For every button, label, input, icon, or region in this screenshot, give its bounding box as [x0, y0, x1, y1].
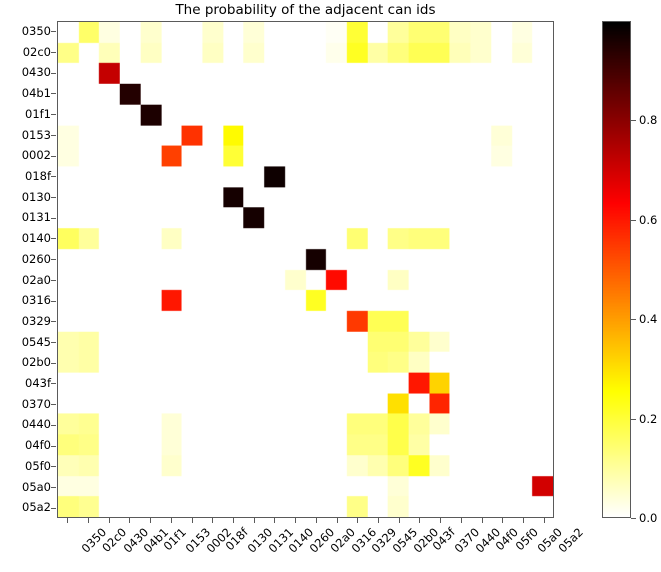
x-tick-mark	[399, 518, 400, 523]
y-tick-mark	[51, 93, 56, 94]
colorbar-tick-mark	[631, 319, 636, 320]
y-tick-mark	[51, 218, 56, 219]
x-tick-mark	[461, 518, 462, 523]
y-tick-mark	[51, 238, 56, 239]
colorbar-tick-labels: 0.00.20.40.60.8	[602, 21, 661, 518]
colorbar-tick-mark	[631, 220, 636, 221]
colorbar-tick-mark	[631, 419, 636, 420]
colorbar-tick-label: 0.4	[639, 312, 657, 326]
x-tick-mark	[212, 518, 213, 523]
x-tick-mark	[419, 518, 420, 523]
y-tick-mark	[51, 321, 56, 322]
colorbar-tick-label: 0.0	[639, 511, 657, 525]
x-axis-tick-labels: 035002c0043004b101f101530002018f01300131…	[57, 518, 554, 572]
page-title: The probability of the adjacent can ids	[57, 2, 554, 18]
x-tick-mark	[502, 518, 503, 523]
y-tick-mark	[51, 446, 56, 447]
heatmap-cells	[58, 22, 553, 517]
y-tick-mark	[51, 135, 56, 136]
y-tick-mark	[51, 466, 56, 467]
figure-canvas: The probability of the adjacent can ids …	[0, 0, 661, 572]
x-tick-mark	[523, 518, 524, 523]
y-tick-mark	[51, 259, 56, 260]
y-tick-mark	[51, 383, 56, 384]
y-tick-mark	[51, 176, 56, 177]
x-tick-mark	[378, 518, 379, 523]
y-tick-mark	[51, 363, 56, 364]
x-tick-mark	[67, 518, 68, 523]
y-tick-mark	[51, 301, 56, 302]
x-tick-mark	[274, 518, 275, 523]
x-tick-mark	[171, 518, 172, 523]
y-tick-mark	[51, 197, 56, 198]
x-tick-mark	[254, 518, 255, 523]
x-tick-mark	[150, 518, 151, 523]
y-tick-mark	[51, 156, 56, 157]
x-tick-mark	[192, 518, 193, 523]
x-tick-mark	[109, 518, 110, 523]
y-axis-tick-marks	[0, 21, 57, 518]
x-tick-mark	[295, 518, 296, 523]
x-tick-mark	[482, 518, 483, 523]
y-tick-mark	[51, 31, 56, 32]
y-tick-mark	[51, 487, 56, 488]
y-tick-mark	[51, 52, 56, 53]
x-tick-mark	[233, 518, 234, 523]
x-tick-mark	[337, 518, 338, 523]
y-tick-mark	[51, 508, 56, 509]
x-tick-mark	[88, 518, 89, 523]
x-tick-label: 05f0	[513, 525, 541, 553]
y-tick-mark	[51, 73, 56, 74]
colorbar-tick-label: 0.2	[639, 412, 657, 426]
y-tick-mark	[51, 280, 56, 281]
x-tick-mark	[544, 518, 545, 523]
y-tick-mark	[51, 404, 56, 405]
colorbar-tick-label: 0.6	[639, 213, 657, 227]
x-tick-mark	[440, 518, 441, 523]
y-tick-mark	[51, 114, 56, 115]
y-tick-mark	[51, 342, 56, 343]
x-tick-mark	[129, 518, 130, 523]
y-tick-mark	[51, 425, 56, 426]
colorbar-tick-mark	[631, 518, 636, 519]
x-tick-mark	[316, 518, 317, 523]
colorbar-tick-mark	[631, 120, 636, 121]
x-tick-mark	[357, 518, 358, 523]
heatmap-plot-area	[57, 21, 554, 518]
colorbar-tick-label: 0.8	[639, 113, 657, 127]
